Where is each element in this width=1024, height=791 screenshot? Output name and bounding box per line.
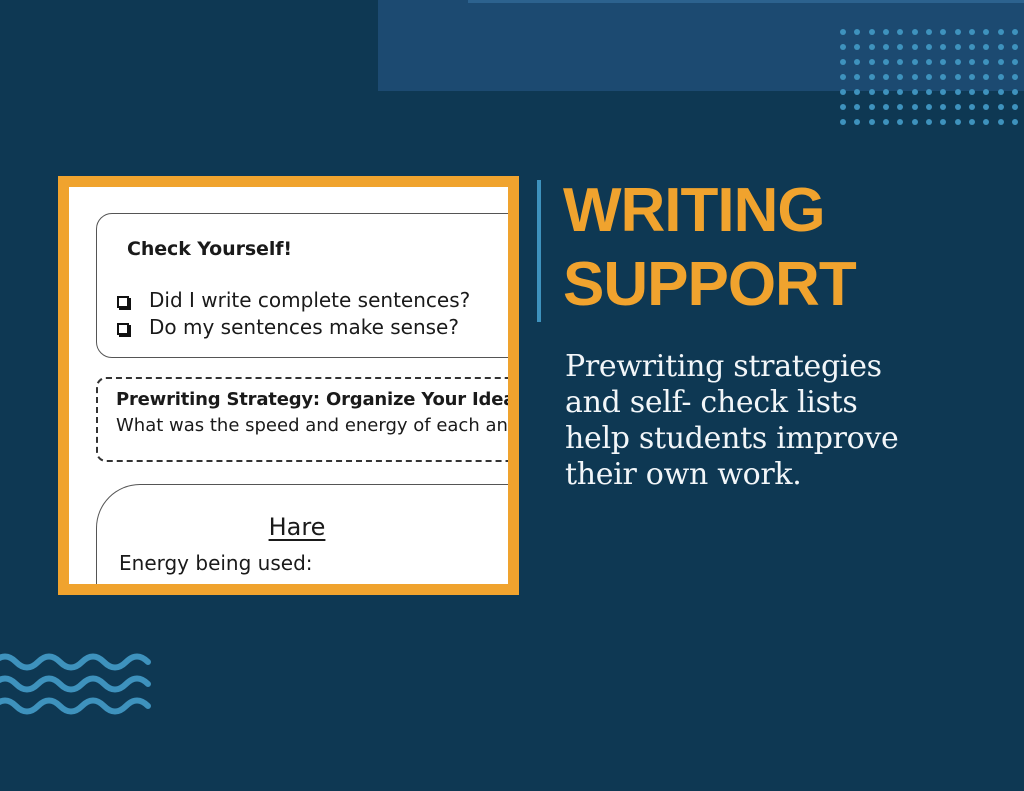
dot bbox=[883, 119, 889, 125]
dot bbox=[969, 29, 975, 35]
dot bbox=[940, 29, 946, 35]
hare-card: Hare Energy being used: bbox=[96, 484, 508, 584]
checkbox-icon[interactable] bbox=[117, 296, 129, 308]
check-yourself-title: Check Yourself! bbox=[127, 238, 292, 260]
dot bbox=[998, 74, 1004, 80]
page-subtitle: Prewriting strategiesand self- check lis… bbox=[565, 349, 1010, 493]
page-subtitle-line: help students improve bbox=[565, 421, 1010, 457]
dot bbox=[912, 59, 918, 65]
dot bbox=[998, 29, 1004, 35]
list-item: Do my sentences make sense? bbox=[117, 314, 470, 341]
dot bbox=[969, 89, 975, 95]
wave-lines-decoration bbox=[0, 648, 170, 718]
dot bbox=[854, 29, 860, 35]
list-item: Did I write complete sentences? bbox=[117, 287, 470, 314]
dot bbox=[926, 74, 932, 80]
dot bbox=[1012, 89, 1018, 95]
dot bbox=[1012, 44, 1018, 50]
dot bbox=[897, 119, 903, 125]
dot bbox=[840, 29, 846, 35]
dot bbox=[955, 89, 961, 95]
page-title-line: WRITING bbox=[563, 174, 1003, 248]
hare-card-title: Hare bbox=[97, 513, 497, 541]
dot bbox=[955, 74, 961, 80]
dot bbox=[912, 104, 918, 110]
dot bbox=[983, 119, 989, 125]
title-accent-bar bbox=[537, 180, 541, 322]
dot bbox=[912, 119, 918, 125]
dot bbox=[1012, 104, 1018, 110]
dot bbox=[840, 74, 846, 80]
dot bbox=[840, 89, 846, 95]
dot bbox=[897, 104, 903, 110]
dot bbox=[969, 119, 975, 125]
dot bbox=[998, 59, 1004, 65]
dot bbox=[969, 44, 975, 50]
dot bbox=[983, 59, 989, 65]
dot bbox=[883, 74, 889, 80]
dot bbox=[969, 59, 975, 65]
hare-card-prompt: Energy being used: bbox=[119, 551, 313, 575]
dot bbox=[883, 59, 889, 65]
dot bbox=[854, 104, 860, 110]
background-top-strip bbox=[468, 0, 1024, 3]
worksheet-page: Check Yourself! Did I write complete sen… bbox=[69, 187, 508, 584]
dot bbox=[869, 104, 875, 110]
dot-grid-decoration bbox=[836, 24, 1022, 130]
dot bbox=[998, 119, 1004, 125]
dot bbox=[912, 29, 918, 35]
dot bbox=[869, 89, 875, 95]
dot bbox=[926, 29, 932, 35]
dot bbox=[926, 59, 932, 65]
dot bbox=[926, 44, 932, 50]
dot bbox=[854, 74, 860, 80]
checkbox-icon[interactable] bbox=[117, 323, 129, 335]
page-subtitle-line: and self- check lists bbox=[565, 385, 1010, 421]
dot bbox=[840, 44, 846, 50]
list-item-label: Did I write complete sentences? bbox=[149, 287, 470, 314]
dot bbox=[869, 119, 875, 125]
dot bbox=[854, 119, 860, 125]
dot bbox=[897, 89, 903, 95]
dot bbox=[869, 59, 875, 65]
prewriting-strategy-card: Prewriting Strategy: Organize Your Ideas… bbox=[96, 377, 508, 462]
dot bbox=[955, 119, 961, 125]
prewriting-strategy-prompt: What was the speed and energy of each an… bbox=[116, 415, 508, 436]
dot bbox=[840, 104, 846, 110]
dot bbox=[912, 89, 918, 95]
dot bbox=[955, 59, 961, 65]
dot bbox=[883, 29, 889, 35]
dot bbox=[1012, 74, 1018, 80]
dot bbox=[854, 89, 860, 95]
dot bbox=[983, 29, 989, 35]
worksheet-image-frame: Check Yourself! Did I write complete sen… bbox=[58, 176, 519, 595]
dot bbox=[854, 59, 860, 65]
dot bbox=[883, 44, 889, 50]
dot bbox=[983, 89, 989, 95]
dot bbox=[983, 44, 989, 50]
dot bbox=[840, 119, 846, 125]
dot bbox=[883, 104, 889, 110]
dot bbox=[926, 119, 932, 125]
dot bbox=[969, 104, 975, 110]
worksheet-image: Check Yourself! Did I write complete sen… bbox=[69, 187, 508, 584]
dot bbox=[940, 44, 946, 50]
dot bbox=[1012, 29, 1018, 35]
dot bbox=[1012, 119, 1018, 125]
dot bbox=[897, 44, 903, 50]
dot bbox=[869, 74, 875, 80]
dot bbox=[869, 44, 875, 50]
dot bbox=[998, 104, 1004, 110]
prewriting-strategy-title: Prewriting Strategy: Organize Your Ideas bbox=[116, 389, 508, 410]
dot bbox=[869, 29, 875, 35]
dot bbox=[840, 59, 846, 65]
dot bbox=[926, 89, 932, 95]
dot bbox=[983, 104, 989, 110]
dot bbox=[955, 29, 961, 35]
dot bbox=[854, 44, 860, 50]
dot bbox=[940, 89, 946, 95]
dot bbox=[940, 59, 946, 65]
dot bbox=[998, 89, 1004, 95]
dot bbox=[955, 104, 961, 110]
dot bbox=[883, 89, 889, 95]
dot bbox=[926, 104, 932, 110]
page-subtitle-line: Prewriting strategies bbox=[565, 349, 1010, 385]
dot bbox=[940, 119, 946, 125]
page-title-line: SUPPORT bbox=[563, 248, 1003, 322]
dot bbox=[897, 74, 903, 80]
dot bbox=[969, 74, 975, 80]
page-title: WRITINGSUPPORT bbox=[563, 174, 1003, 322]
dot bbox=[940, 74, 946, 80]
dot bbox=[955, 44, 961, 50]
dot bbox=[912, 74, 918, 80]
dot bbox=[897, 59, 903, 65]
check-yourself-card: Check Yourself! Did I write complete sen… bbox=[96, 213, 508, 358]
dot bbox=[1012, 59, 1018, 65]
dot bbox=[897, 29, 903, 35]
dot bbox=[912, 44, 918, 50]
list-item-label: Do my sentences make sense? bbox=[149, 314, 459, 341]
page-subtitle-line: their own work. bbox=[565, 457, 1010, 493]
dot bbox=[983, 74, 989, 80]
dot bbox=[998, 44, 1004, 50]
dot bbox=[940, 104, 946, 110]
check-yourself-list: Did I write complete sentences? Do my se… bbox=[117, 287, 470, 341]
